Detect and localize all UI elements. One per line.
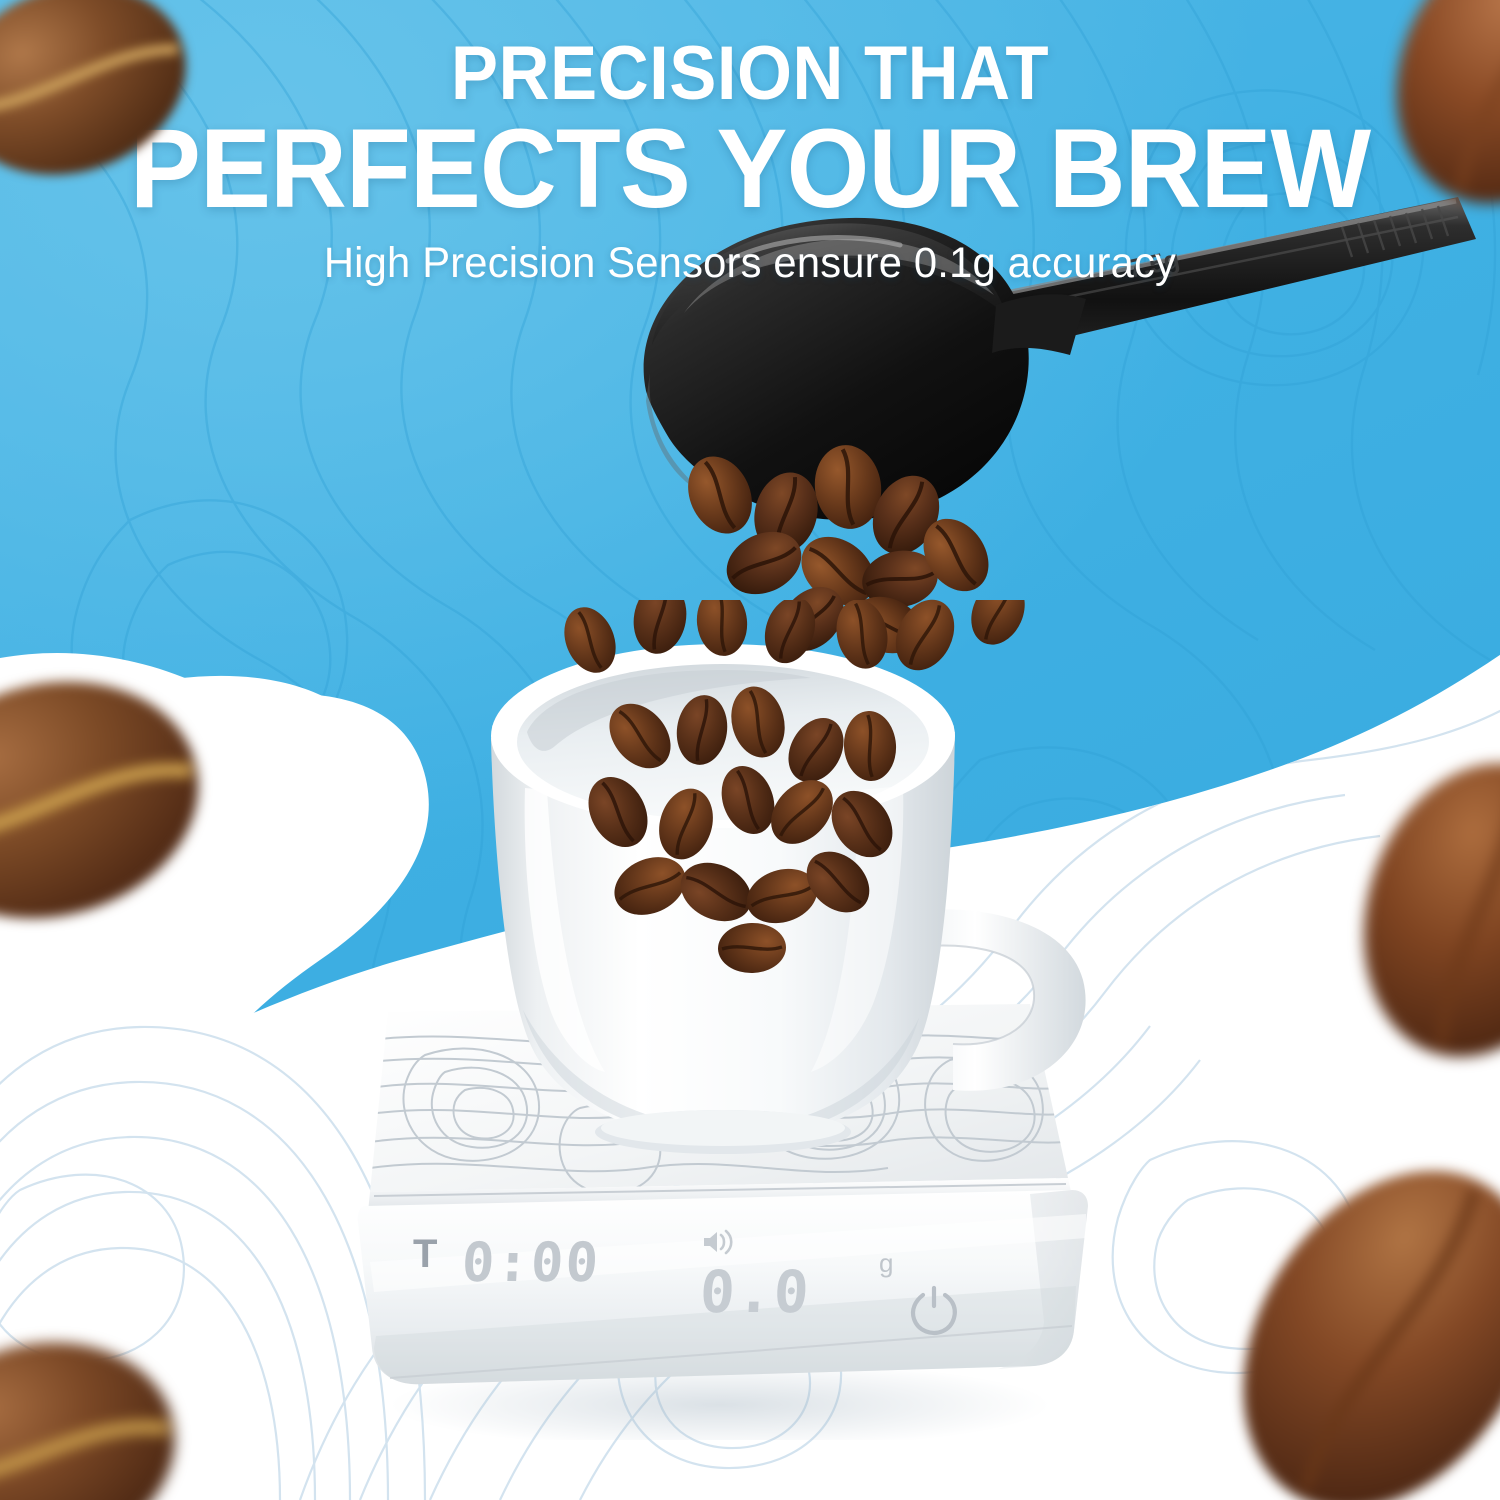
- marketing-image-canvas: PRECISION THAT PERFECTS YOUR BREW High P…: [0, 0, 1500, 1500]
- corner-bean-top-right: [1370, 0, 1500, 210]
- corner-bean-top-left: [0, 0, 220, 230]
- corner-bean-mid-right: [1330, 740, 1500, 1070]
- headline-block: PRECISION THAT PERFECTS YOUR BREW High P…: [0, 38, 1500, 288]
- headline-subtitle: High Precision Sensors ensure 0.1g accur…: [23, 239, 1478, 288]
- falling-coffee-bean-single: [880, 585, 970, 685]
- headline-line-2: PERFECTS YOUR BREW: [38, 113, 1463, 225]
- tare-indicator[interactable]: T: [413, 1232, 437, 1277]
- speaker-icon[interactable]: [700, 1226, 740, 1258]
- timer-display: 0:00: [460, 1231, 601, 1294]
- corner-bean-mid-left: [0, 640, 260, 960]
- corner-bean-bottom-left: [0, 1310, 220, 1500]
- falling-coffee-beans-into-cup: [490, 600, 1110, 1020]
- weight-display: 0.0: [698, 1258, 812, 1326]
- power-icon[interactable]: [905, 1280, 963, 1338]
- corner-bean-bottom-right: [1160, 1120, 1500, 1500]
- weight-unit-label: g: [879, 1248, 893, 1279]
- headline-line-1: PRECISION THAT: [53, 38, 1448, 109]
